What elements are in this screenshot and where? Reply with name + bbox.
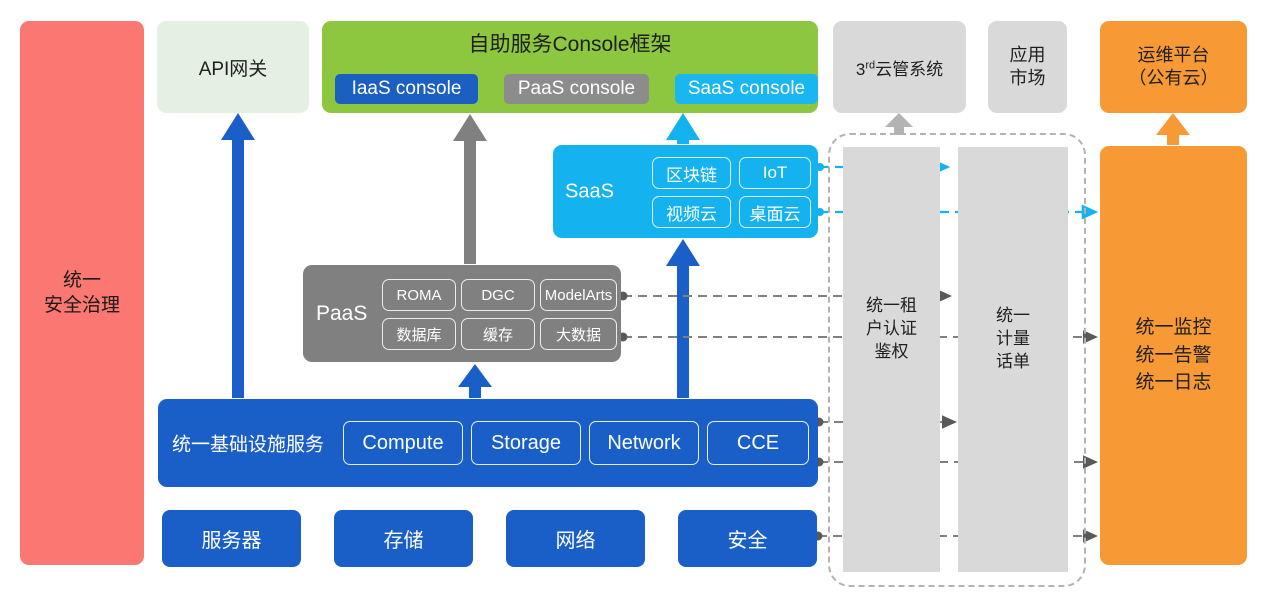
infra-chip-network-label: Network — [607, 432, 680, 455]
paas-chip-roma[interactable]: ROMA — [382, 279, 456, 311]
saas-chip-video-cloud[interactable]: 视频云 — [652, 196, 731, 228]
paas-chip-bigdata[interactable]: 大数据 — [540, 318, 617, 350]
arrow-infra-to-api — [221, 113, 255, 398]
security-governance-column[interactable]: 统一 安全治理 — [20, 21, 144, 565]
infra-chip-storage[interactable]: Storage — [471, 421, 581, 465]
infra-chip-storage-label: Storage — [491, 432, 561, 455]
infra-chip-cce[interactable]: CCE — [707, 421, 809, 465]
saas-layer-box[interactable]: SaaS 区块链 IoT 视频云 桌面云 — [553, 145, 818, 238]
ops-monitoring-label: 统一监控 统一告警 统一日志 — [1135, 314, 1211, 397]
saas-chip-desktop-cloud[interactable]: 桌面云 — [739, 196, 811, 228]
arrow-infra-to-paas — [458, 364, 492, 398]
saas-console-chip[interactable]: SaaS console — [675, 74, 818, 104]
saas-chip-blockchain-label: 区块链 — [666, 161, 717, 186]
shared-service-auth-label: 统一租 户认证 鉴权 — [866, 295, 917, 364]
paas-chip-modelarts[interactable]: ModelArts — [540, 279, 617, 311]
ops-platform-box[interactable]: 运维平台 （公有云） — [1100, 21, 1247, 113]
paas-chip-dgc-label: DGC — [481, 287, 514, 304]
infra-chip-cce-label: CCE — [737, 432, 779, 455]
paas-chip-bigdata-label: 大数据 — [556, 324, 601, 345]
paas-chip-database-label: 数据库 — [396, 324, 441, 345]
arrow-paas-to-console — [453, 114, 487, 264]
ops-platform-label: 运维平台 （公有云） — [1129, 44, 1219, 91]
shared-service-metering[interactable]: 统一 计量 话单 — [958, 147, 1068, 572]
saas-chip-video-cloud-label: 视频云 — [666, 200, 717, 225]
resource-box-server-label: 服务器 — [202, 524, 262, 553]
saas-chip-desktop-cloud-label: 桌面云 — [750, 200, 801, 225]
paas-chip-cache[interactable]: 缓存 — [461, 318, 535, 350]
saas-chip-blockchain[interactable]: 区块链 — [652, 157, 731, 189]
saas-layer-label: SaaS — [565, 180, 614, 203]
arrow-infra-to-saas — [666, 239, 700, 398]
api-gateway-box[interactable]: API网关 — [157, 21, 309, 113]
resource-box-network-label: 网络 — [556, 524, 596, 553]
paas-layer-box[interactable]: PaaS ROMA DGC ModelArts 数据库 缓存 大数据 — [303, 265, 621, 362]
paas-layer-label: PaaS — [316, 302, 367, 326]
infra-chip-compute-label: Compute — [362, 432, 443, 455]
console-framework-title: 自助服务Console框架 — [322, 28, 818, 58]
paas-chip-dgc[interactable]: DGC — [461, 279, 535, 311]
security-governance-label: 统一 安全治理 — [44, 268, 120, 318]
third-party-cloud-mgmt-label: 3rd云管系统 — [856, 55, 943, 80]
iaas-console-label: IaaS console — [352, 78, 462, 100]
paas-console-label: PaaS console — [518, 78, 635, 100]
resource-box-server[interactable]: 服务器 — [162, 510, 301, 567]
saas-chip-iot-label: IoT — [763, 163, 788, 183]
resource-box-security-label: 安全 — [728, 524, 768, 553]
paas-chip-cache-label: 缓存 — [483, 324, 513, 345]
architecture-diagram: 统一租 户认证 鉴权 统一 计量 话单 统一 安全治理 API网关 自助服务Co… — [0, 0, 1265, 605]
infra-chip-network[interactable]: Network — [589, 421, 699, 465]
arrow-saas-to-console — [666, 113, 700, 144]
app-market-box[interactable]: 应用 市场 — [988, 21, 1067, 113]
api-gateway-label: API网关 — [199, 54, 268, 81]
iaas-console-chip[interactable]: IaaS console — [335, 74, 478, 104]
arrow-to-third-cloud — [885, 113, 913, 135]
third-party-cloud-mgmt-box[interactable]: 3rd云管系统 — [833, 21, 966, 113]
resource-box-storage-label: 存储 — [384, 524, 424, 553]
resource-box-storage[interactable]: 存储 — [334, 510, 473, 567]
resource-box-network[interactable]: 网络 — [506, 510, 645, 567]
console-framework-box[interactable]: 自助服务Console框架 IaaS console PaaS console … — [322, 21, 818, 113]
paas-chip-modelarts-label: ModelArts — [545, 287, 613, 304]
saas-chip-iot[interactable]: IoT — [739, 157, 811, 189]
ops-monitoring-column[interactable]: 统一监控 统一告警 统一日志 — [1100, 146, 1247, 565]
paas-chip-roma-label: ROMA — [397, 287, 442, 304]
arrow-ops-column-to-platform — [1156, 113, 1190, 145]
resource-box-security[interactable]: 安全 — [678, 510, 817, 567]
paas-chip-database[interactable]: 数据库 — [382, 318, 456, 350]
app-market-label: 应用 市场 — [1010, 44, 1046, 90]
infrastructure-layer-label: 统一基础设施服务 — [172, 430, 324, 457]
saas-console-label: SaaS console — [688, 78, 805, 100]
infrastructure-layer-box[interactable]: 统一基础设施服务 Compute Storage Network CCE — [158, 399, 818, 487]
shared-service-auth[interactable]: 统一租 户认证 鉴权 — [843, 147, 940, 572]
infra-chip-compute[interactable]: Compute — [343, 421, 463, 465]
paas-console-chip[interactable]: PaaS console — [504, 74, 649, 104]
shared-service-metering-label: 统一 计量 话单 — [996, 305, 1030, 374]
